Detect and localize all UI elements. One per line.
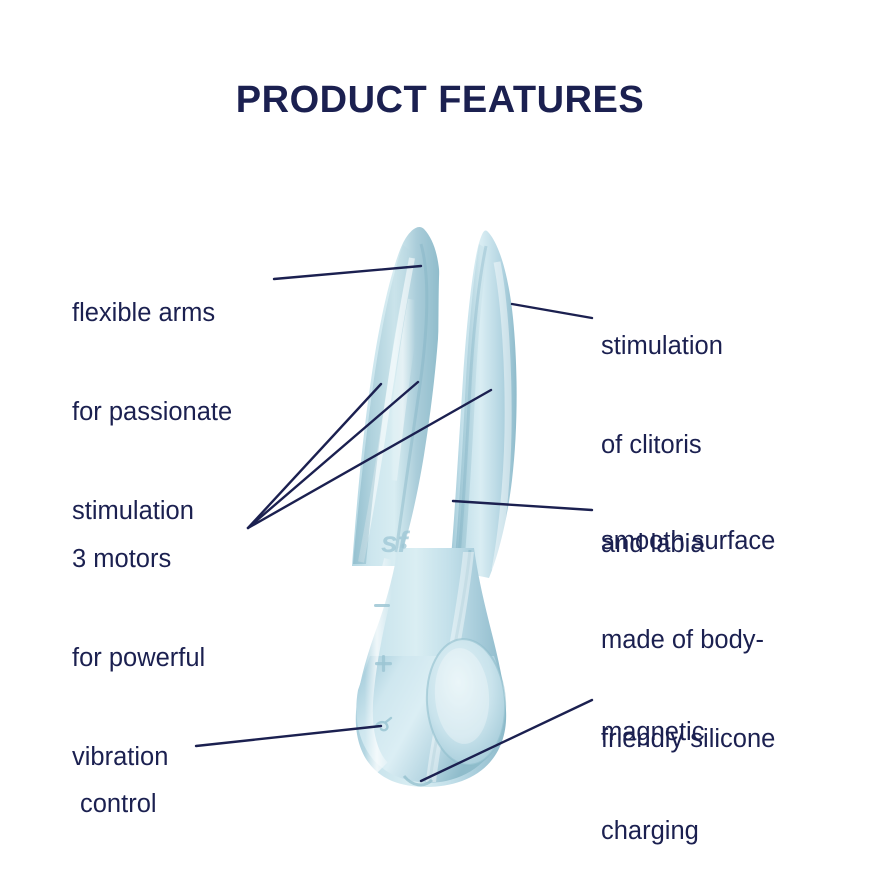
label-magnetic-charging-line2: charging xyxy=(601,815,724,848)
label-magnetic-charging: magnetic charging connection xyxy=(601,650,724,880)
label-three-motors-line1: 3 motors xyxy=(72,543,205,576)
label-stimulation-clitoris-line2: of clitoris xyxy=(601,429,723,462)
page-title: PRODUCT FEATURES xyxy=(0,79,880,122)
label-three-motors-line2: for powerful xyxy=(72,642,205,675)
label-smooth-surface-line1: smooth surface xyxy=(601,525,775,558)
label-flexible-arms-line1: flexible arms xyxy=(72,297,232,330)
control-minus-icon xyxy=(374,604,390,607)
label-control-vibrations-line1: control xyxy=(80,788,189,821)
label-magnetic-charging-line1: magnetic xyxy=(601,716,724,749)
label-control-vibrations: control vibrations xyxy=(80,722,189,880)
label-flexible-arms-line2: for passionate xyxy=(72,396,232,429)
label-stimulation-clitoris-line1: stimulation xyxy=(601,330,723,363)
product-features-infographic: sf xyxy=(0,0,880,880)
brand-logo-sf: sf xyxy=(381,526,411,559)
